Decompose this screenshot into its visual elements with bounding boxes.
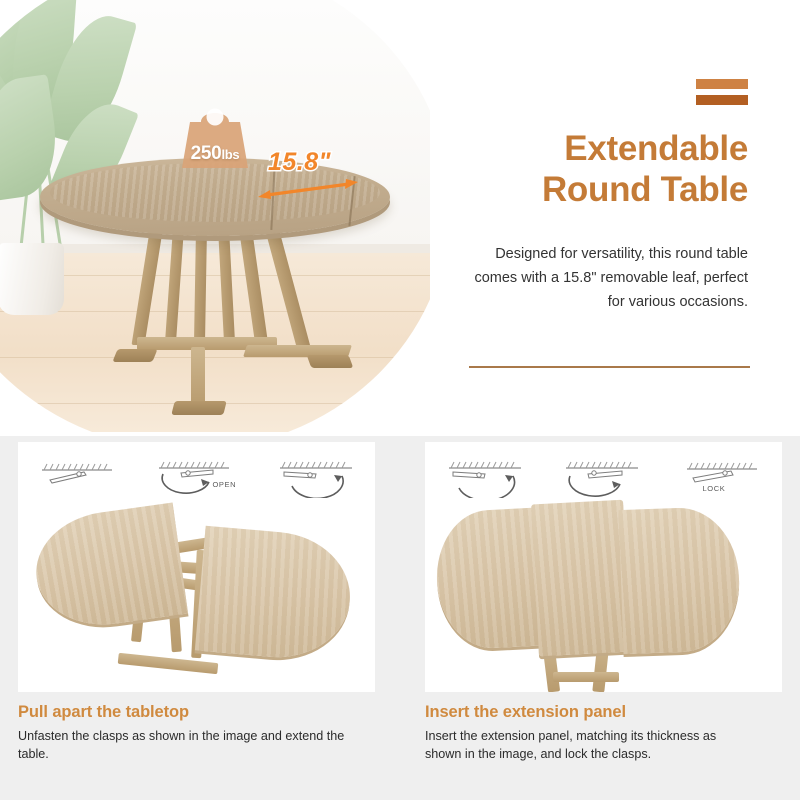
steps-section: OPEN bbox=[0, 436, 800, 800]
tabletop-right-half bbox=[195, 526, 355, 664]
leaf-dimension-label: 15.8" bbox=[268, 148, 331, 177]
tabletop-left-half bbox=[29, 502, 188, 633]
table-base bbox=[95, 225, 345, 415]
tabletop-left-half bbox=[433, 507, 548, 650]
accent-bar-bottom bbox=[696, 95, 748, 105]
step-2-title: Insert the extension panel bbox=[425, 703, 782, 722]
hero-section: 250lbs 15.8" Extendable Round Table Desi… bbox=[0, 0, 800, 432]
step-pull-apart: OPEN bbox=[18, 442, 375, 800]
tabletop-right-half bbox=[619, 506, 742, 654]
page-title: Extendable Round Table bbox=[455, 128, 748, 210]
table-pulled-apart-photo bbox=[18, 490, 375, 692]
weight-capacity-badge: 250lbs bbox=[178, 100, 252, 172]
table-with-extension-panel-photo bbox=[425, 490, 782, 692]
weight-value: 250 bbox=[191, 143, 222, 164]
hero-description: Designed for versatility, this round tab… bbox=[465, 242, 748, 314]
accent-bar-top bbox=[696, 79, 748, 89]
weight-unit: lbs bbox=[221, 147, 239, 162]
step-1-title: Pull apart the tabletop bbox=[18, 703, 375, 722]
title-line-1: Extendable bbox=[455, 128, 748, 169]
step-2-image-card: LOCK bbox=[425, 442, 782, 692]
step-1-image-card: OPEN bbox=[18, 442, 375, 692]
hero-product-scene bbox=[0, 0, 430, 432]
step-1-body: Unfasten the clasps as shown in the imag… bbox=[18, 727, 348, 763]
headline-divider bbox=[469, 366, 750, 368]
title-line-2: Round Table bbox=[455, 169, 748, 210]
extension-panel bbox=[531, 500, 631, 657]
step-insert-panel: LOCK Insert the extension panel Insert t… bbox=[425, 442, 782, 800]
double-arrow-icon bbox=[258, 178, 358, 202]
accent-bars bbox=[696, 79, 748, 105]
clasp-tag-open: OPEN bbox=[213, 480, 237, 489]
weight-capacity-text: 250lbs bbox=[178, 143, 252, 165]
plant-pot bbox=[0, 243, 64, 315]
headline-column: Extendable Round Table Designed for vers… bbox=[455, 0, 800, 432]
step-2-body: Insert the extension panel, matching its… bbox=[425, 727, 755, 763]
